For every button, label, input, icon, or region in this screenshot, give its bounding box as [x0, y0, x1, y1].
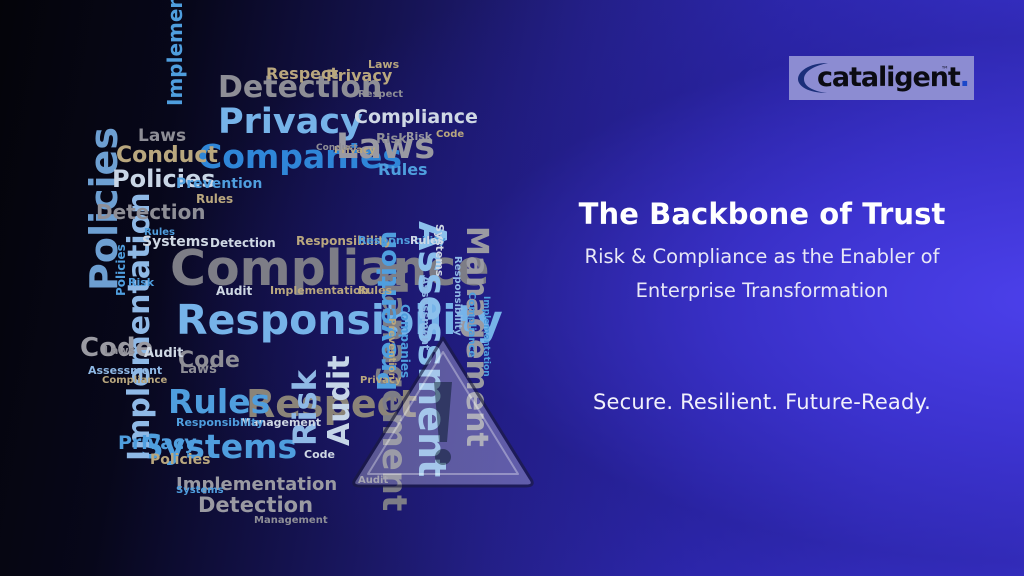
- brand-logo[interactable]: cataligent. ™: [789, 56, 974, 100]
- cloud-word: Rules: [196, 194, 233, 205]
- cloud-word: Risk: [128, 278, 154, 288]
- cloud-word: Laws: [104, 346, 135, 356]
- cloud-word: Compliance: [354, 108, 478, 126]
- cloud-word: Code: [436, 130, 464, 140]
- cloud-word: Laws: [180, 364, 217, 376]
- warning-triangle-icon: [348, 330, 538, 490]
- cloud-word: Rules: [144, 228, 175, 238]
- cloud-word: Laws: [138, 128, 186, 144]
- cloud-word: Rules: [168, 386, 270, 417]
- page-subtitle: Risk & Compliance as the Enabler of Ente…: [514, 240, 1010, 308]
- cloud-word: Laws: [368, 60, 399, 70]
- cloud-word: Policies: [150, 454, 210, 467]
- cloud-word: Conduct: [116, 146, 218, 167]
- cloud-word: Detection: [96, 203, 206, 222]
- cloud-word: Implementation: [166, 0, 185, 106]
- cloud-word: Responsibility: [453, 256, 463, 336]
- cloud-word: Risk: [406, 132, 432, 142]
- cloud-word: Audit: [216, 286, 252, 297]
- cloud-word: Conduct: [316, 144, 358, 153]
- cloud-word: Compliance: [102, 376, 167, 386]
- cloud-word: Prevention: [176, 178, 262, 191]
- cloud-word: Audit: [144, 348, 183, 360]
- cloud-word: Respect: [358, 90, 403, 100]
- logo-text: cataligent: [817, 62, 960, 93]
- cloud-word: Risk: [290, 370, 320, 446]
- cloud-word: Responsibility: [176, 418, 264, 428]
- cloud-word: Rules: [358, 286, 392, 296]
- cloud-word: Detection: [210, 238, 276, 249]
- page-title: The Backbone of Trust: [514, 197, 1010, 231]
- cloud-word: Detection: [198, 496, 313, 516]
- slide-canvas: ComplianceResponsibilityPrivacyCompanies…: [0, 0, 1024, 576]
- cloud-word: Management: [254, 516, 328, 526]
- cloud-word: Privacy: [118, 434, 197, 452]
- logo-trademark: ™: [941, 65, 949, 74]
- subtitle-line-1: Risk & Compliance as the Enabler of: [514, 240, 1010, 274]
- subtitle-line-2: Enterprise Transformation: [514, 274, 1010, 308]
- cloud-word: Policies: [116, 244, 127, 296]
- cloud-word: Rules: [378, 162, 428, 177]
- logo-dot: .: [960, 62, 969, 93]
- cloud-word: Systems: [434, 224, 444, 276]
- cloud-word: Implementation: [270, 286, 369, 296]
- cloud-word: Risk: [376, 134, 407, 146]
- cloud-word: Code: [304, 450, 335, 460]
- cloud-word: Systems: [176, 486, 224, 496]
- tagline: Secure. Resilient. Future-Ready.: [514, 390, 1010, 414]
